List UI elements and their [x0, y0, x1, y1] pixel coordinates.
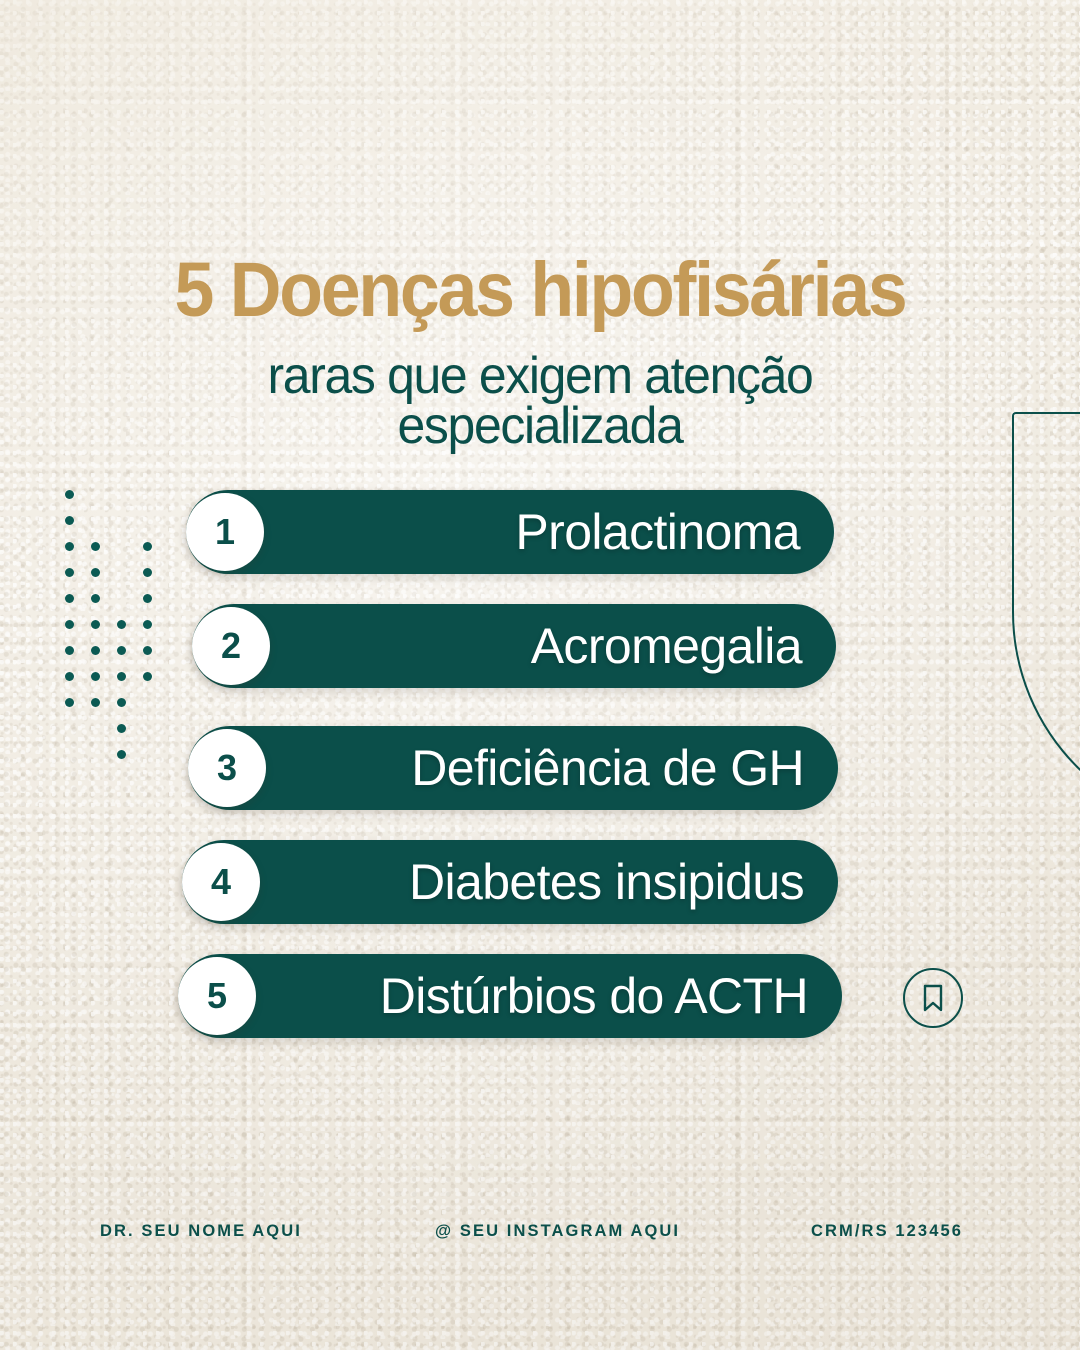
list-item-number-badge: 5	[178, 957, 256, 1035]
footer-crm-number: CRM/RS 123456	[811, 1222, 963, 1241]
list-item-number-badge: 1	[186, 493, 264, 571]
poster-canvas: 5 Doenças hipofisárias raras que exigem …	[0, 0, 1080, 1350]
footer-instagram-handle: @ SEU INSTAGRAM AQUI	[435, 1222, 680, 1241]
list-item-label: Diabetes insipidus	[409, 853, 804, 911]
disease-list: Prolactinoma 1 Acromegalia 2 Deficiência…	[0, 0, 1080, 1350]
list-item[interactable]: Prolactinoma 1	[186, 490, 834, 574]
list-item-label: Distúrbios do ACTH	[380, 967, 808, 1025]
list-item[interactable]: Deficiência de GH 3	[188, 726, 838, 810]
list-item-label: Acromegalia	[531, 617, 802, 675]
list-item-label: Prolactinoma	[515, 503, 800, 561]
list-item[interactable]: Distúrbios do ACTH 5	[178, 954, 842, 1038]
list-item-number-badge: 3	[188, 729, 266, 807]
bookmark-icon[interactable]	[903, 968, 963, 1028]
list-item-number-badge: 4	[182, 843, 260, 921]
footer-bar: DR. SEU NOME AQUI @ SEU INSTAGRAM AQUI C…	[0, 1222, 1080, 1254]
list-item[interactable]: Acromegalia 2	[192, 604, 836, 688]
list-item-label: Deficiência de GH	[411, 739, 804, 797]
footer-doctor-name: DR. SEU NOME AQUI	[100, 1222, 302, 1241]
list-item[interactable]: Diabetes insipidus 4	[182, 840, 838, 924]
list-item-number-badge: 2	[192, 607, 270, 685]
